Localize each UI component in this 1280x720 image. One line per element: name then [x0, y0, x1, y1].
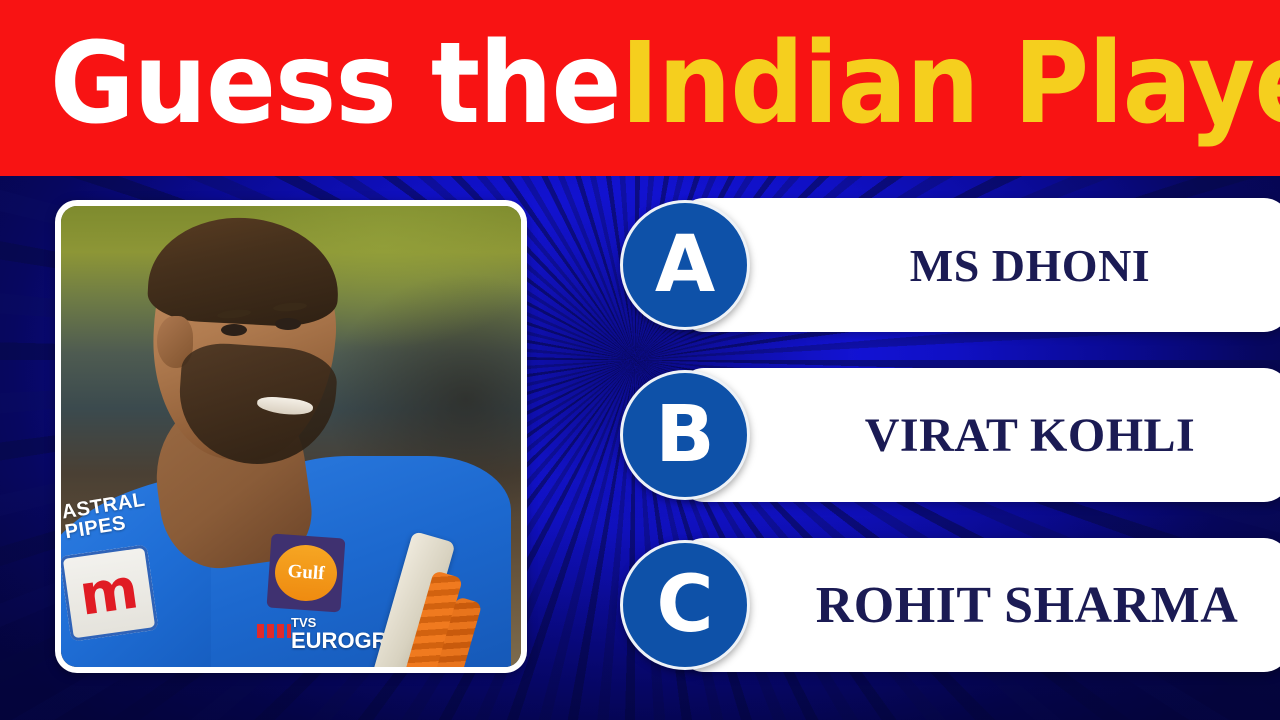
option-label-c: ROHIT SHARMA [678, 576, 1280, 635]
option-label-b: VIRAT KOHLI [678, 408, 1280, 463]
option-label-a: MS DHONI [678, 239, 1280, 292]
player-eye-right [275, 318, 301, 330]
option-badge-a[interactable]: A [620, 200, 750, 330]
quiz-slide: Guess the Indian Players ASTRALPIPES m G… [0, 0, 1280, 720]
title-part-yellow: Indian Players [621, 28, 1280, 140]
option-badge-c[interactable]: C [620, 540, 750, 670]
option-pill-a[interactable]: MS DHONI [678, 198, 1280, 332]
option-row-a[interactable]: MS DHONI A [620, 198, 1260, 336]
title-banner: Guess the Indian Players [0, 0, 1280, 176]
player-photo: ASTRALPIPES m Gulf TVS EUROGRIP [61, 206, 521, 667]
option-row-c[interactable]: ROHIT SHARMA C [620, 538, 1260, 676]
sponsor-tvs-mark-icon [257, 624, 291, 638]
option-pill-b[interactable]: VIRAT KOHLI [678, 368, 1280, 502]
sponsor-m-logo: m [61, 544, 159, 641]
sponsor-gulf-logo: Gulf [267, 534, 346, 613]
option-pill-c[interactable]: ROHIT SHARMA [678, 538, 1280, 672]
option-row-b[interactable]: VIRAT KOHLI B [620, 368, 1260, 506]
page-title: Guess the Indian Players [50, 14, 1145, 154]
option-badge-b[interactable]: B [620, 370, 750, 500]
player-eye-left [221, 324, 247, 336]
sponsor-gulf-text: Gulf [273, 543, 339, 603]
title-part-white: Guess the [50, 28, 621, 140]
player-photo-card: ASTRALPIPES m Gulf TVS EUROGRIP [55, 200, 527, 673]
